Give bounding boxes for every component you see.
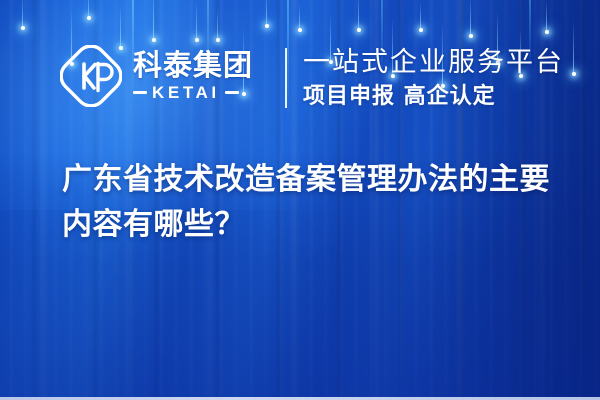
- brand-name-cn: 科泰集团: [133, 51, 253, 81]
- header-divider: [285, 48, 287, 108]
- promo-banner: 科泰集团 KETAI 一站式企业服务平台 项目申报 高企认定 广东省技术改造备案…: [0, 0, 600, 400]
- tagline-primary: 一站式企业服务平台: [303, 47, 564, 79]
- banner-header: 科泰集团 KETAI 一站式企业服务平台 项目申报 高企认定: [0, 0, 600, 140]
- banner-title: 广东省技术改造备案管理办法的主要内容有哪些？: [62, 157, 562, 247]
- logo-dash-right-icon: [225, 91, 239, 94]
- brand-tagline: 一站式企业服务平台 项目申报 高企认定: [303, 47, 564, 112]
- brand-name-en-row: KETAI: [133, 84, 253, 101]
- brand-name-en: KETAI: [152, 84, 220, 101]
- brand-logo: 科泰集团 KETAI: [60, 45, 253, 107]
- logo-dash-left-icon: [133, 91, 147, 94]
- tagline-secondary: 项目申报 高企认定: [303, 82, 564, 112]
- ketai-kp-diamond-logo-icon: [60, 45, 122, 107]
